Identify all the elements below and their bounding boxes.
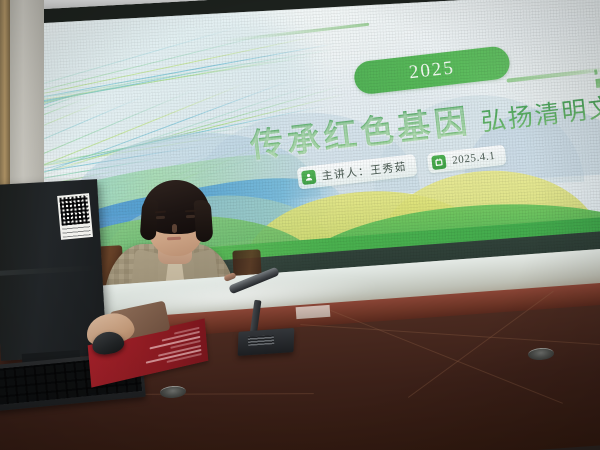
monitor-seam: [0, 265, 102, 276]
calendar-icon: [432, 154, 448, 170]
person-hair-side: [140, 199, 159, 240]
date-chip-label: 2025.4.1: [452, 150, 496, 167]
person-nose: [172, 224, 177, 233]
year-badge-label: 2025: [408, 57, 456, 84]
door-frame: [0, 0, 10, 210]
qr-code-icon: [59, 195, 89, 225]
photo-scene: 2025 传承红色基因弘扬清明文化 主讲人：王秀茹: [0, 0, 600, 450]
person-eye: [156, 216, 165, 219]
person-mouth: [167, 237, 181, 240]
person-eye: [186, 215, 195, 218]
microphone-grille-icon: [248, 335, 275, 346]
desk-panel-seam: [300, 324, 599, 345]
qr-code-asset-tag: [57, 193, 93, 240]
desk-paper: [296, 305, 331, 319]
user-icon: [301, 170, 317, 186]
asset-tag-text: [62, 225, 91, 237]
person-hair-side: [194, 199, 214, 242]
